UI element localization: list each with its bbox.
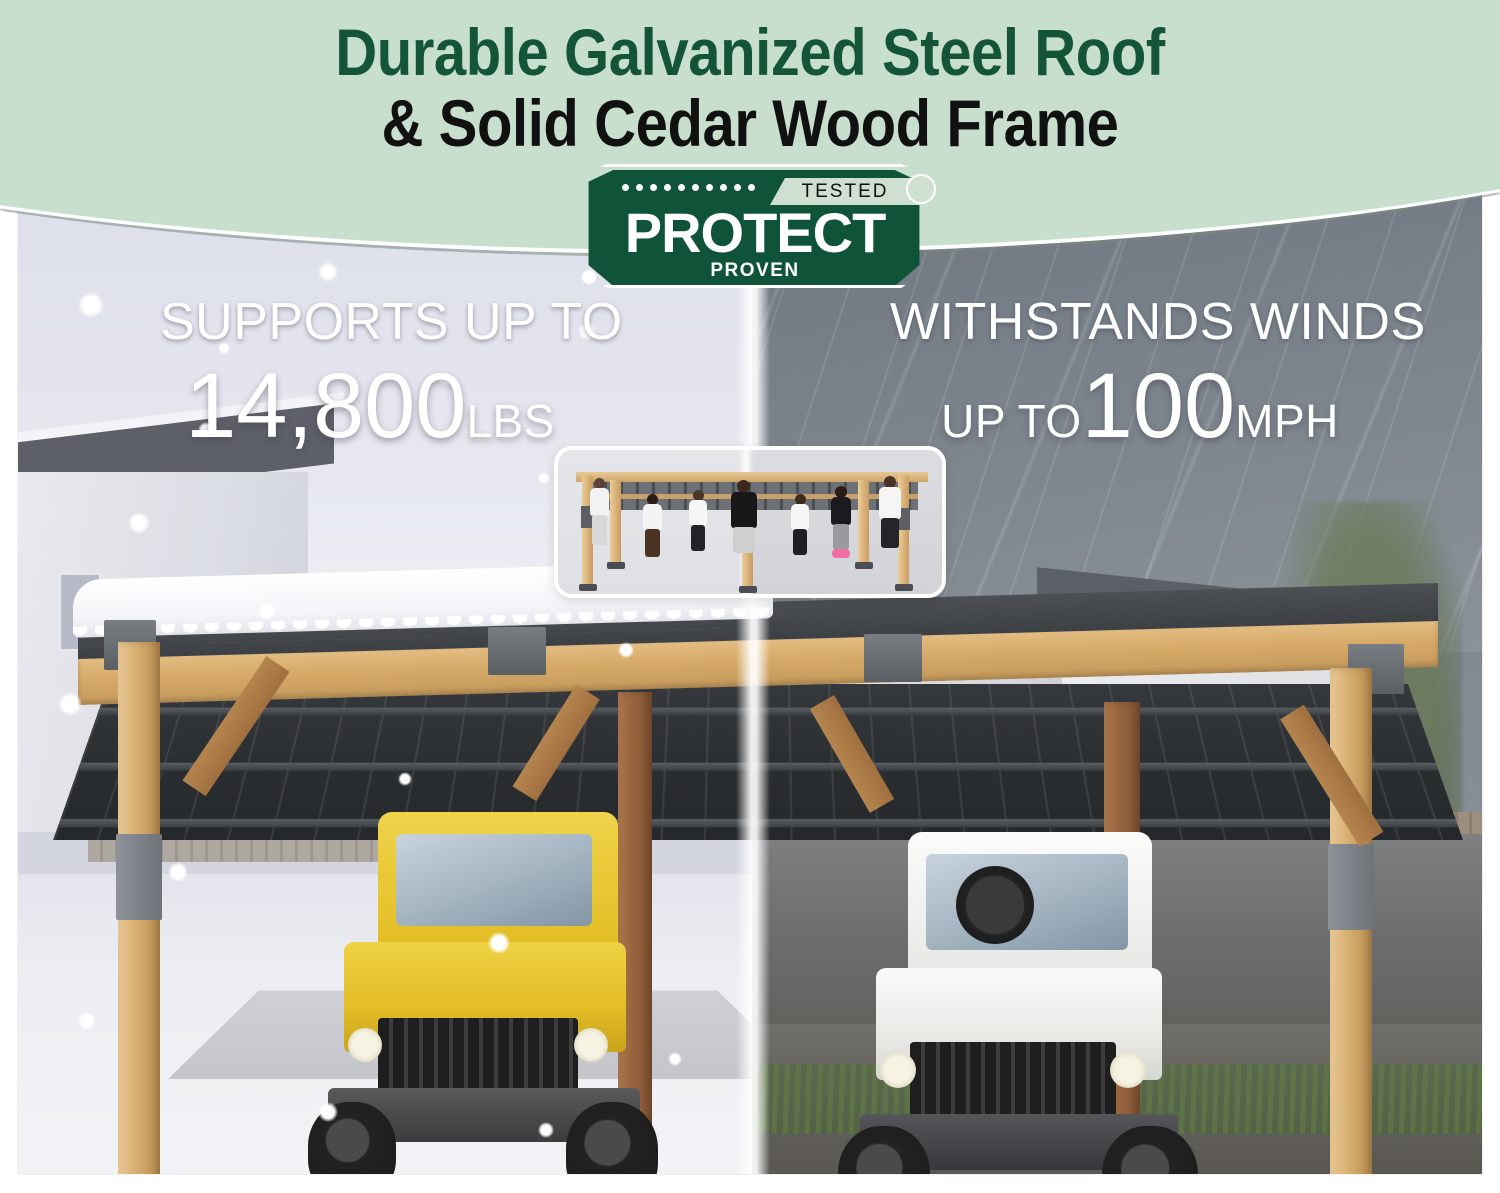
- badge-sub-label: PROVEN: [560, 260, 950, 282]
- headline-line-1: Durable Galvanized Steel Roof: [90, 20, 1410, 85]
- stat-wind-rating: WITHSTANDS WINDS UP TO100MPH: [890, 292, 1390, 459]
- person-legs: [793, 529, 807, 555]
- stat-right-value-row: UP TO100MPH: [890, 354, 1390, 459]
- post-bracket-plate: [116, 834, 162, 920]
- jeep-headlight: [1110, 1052, 1146, 1088]
- person-legs: [881, 518, 899, 548]
- stat-left-heading: SUPPORTS UP TO: [160, 292, 580, 352]
- badge-main-label: PROTECT: [560, 200, 950, 265]
- inset-post: [610, 480, 621, 566]
- stat-right-value: 100: [1082, 355, 1236, 457]
- person-torso: [689, 500, 707, 526]
- person-torso: [643, 504, 662, 530]
- badge-dot: [664, 184, 671, 191]
- jeep-grille: [378, 1018, 578, 1092]
- stat-right-heading: WITHSTANDS WINDS: [890, 292, 1390, 352]
- vehicle-white-jeep: [838, 792, 1198, 1174]
- stat-right-unit: MPH: [1235, 395, 1339, 447]
- stat-left-value: 14,800: [185, 355, 466, 457]
- headline-line-2: & Solid Cedar Wood Frame: [90, 91, 1410, 156]
- inset-post-foot: [855, 562, 873, 569]
- person-legs: [691, 525, 705, 551]
- person-torso: [731, 492, 757, 528]
- promo-hero: SUPPORTS UP TO 14,800LBS WITHSTANDS WIND…: [0, 0, 1500, 1193]
- badge-dot: [636, 184, 643, 191]
- person-legs: [592, 515, 607, 545]
- inset-post-foot: [607, 562, 625, 569]
- person-legs: [645, 529, 660, 557]
- inset-post-foot: [895, 584, 913, 591]
- panel-divider: [736, 172, 770, 1174]
- jeep-headlight: [348, 1028, 382, 1062]
- person-torso: [831, 497, 851, 525]
- post-bracket-plate: [1328, 844, 1374, 930]
- inset-post-foot: [579, 584, 597, 591]
- load-test-inset-card: [554, 446, 946, 598]
- badge-dot: [650, 184, 657, 191]
- stat-snow-load: SUPPORTS UP TO 14,800LBS: [160, 292, 580, 459]
- inset-top-beam: [576, 472, 928, 482]
- badge-dot: [706, 184, 713, 191]
- badge-dot-row: [622, 184, 755, 191]
- person-torso: [791, 504, 809, 530]
- vehicle-yellow-jeep: [304, 772, 664, 1174]
- badge-dot: [678, 184, 685, 191]
- jeep-headlight: [574, 1028, 608, 1062]
- protect-tested-badge: TESTED PROTECT PROVEN: [560, 168, 950, 290]
- stat-left-value-row: 14,800LBS: [160, 354, 580, 459]
- badge-dot: [748, 184, 755, 191]
- beam-bracket: [864, 634, 922, 682]
- jeep-spare-tire: [956, 866, 1034, 944]
- beam-bracket: [488, 627, 546, 675]
- inset-post: [858, 480, 869, 566]
- jeep-wheel: [566, 1102, 658, 1174]
- jeep-wheel: [308, 1102, 396, 1174]
- badge-dot: [622, 184, 629, 191]
- stat-right-prefix: UP TO: [941, 395, 1082, 447]
- jeep-grille: [910, 1042, 1116, 1118]
- badge-dot: [692, 184, 699, 191]
- badge-dot: [720, 184, 727, 191]
- person-shoes: [832, 549, 850, 558]
- person-torso: [590, 488, 609, 516]
- jeep-headlight: [880, 1052, 916, 1088]
- badge-dot: [734, 184, 741, 191]
- inset-post-foot: [739, 586, 757, 593]
- page-title: Durable Galvanized Steel Roof & Solid Ce…: [0, 20, 1500, 155]
- jeep-windshield-glass: [396, 834, 592, 926]
- person-legs: [733, 527, 755, 553]
- stat-left-unit: LBS: [466, 395, 554, 447]
- person-legs: [833, 524, 849, 550]
- person-torso: [879, 487, 901, 519]
